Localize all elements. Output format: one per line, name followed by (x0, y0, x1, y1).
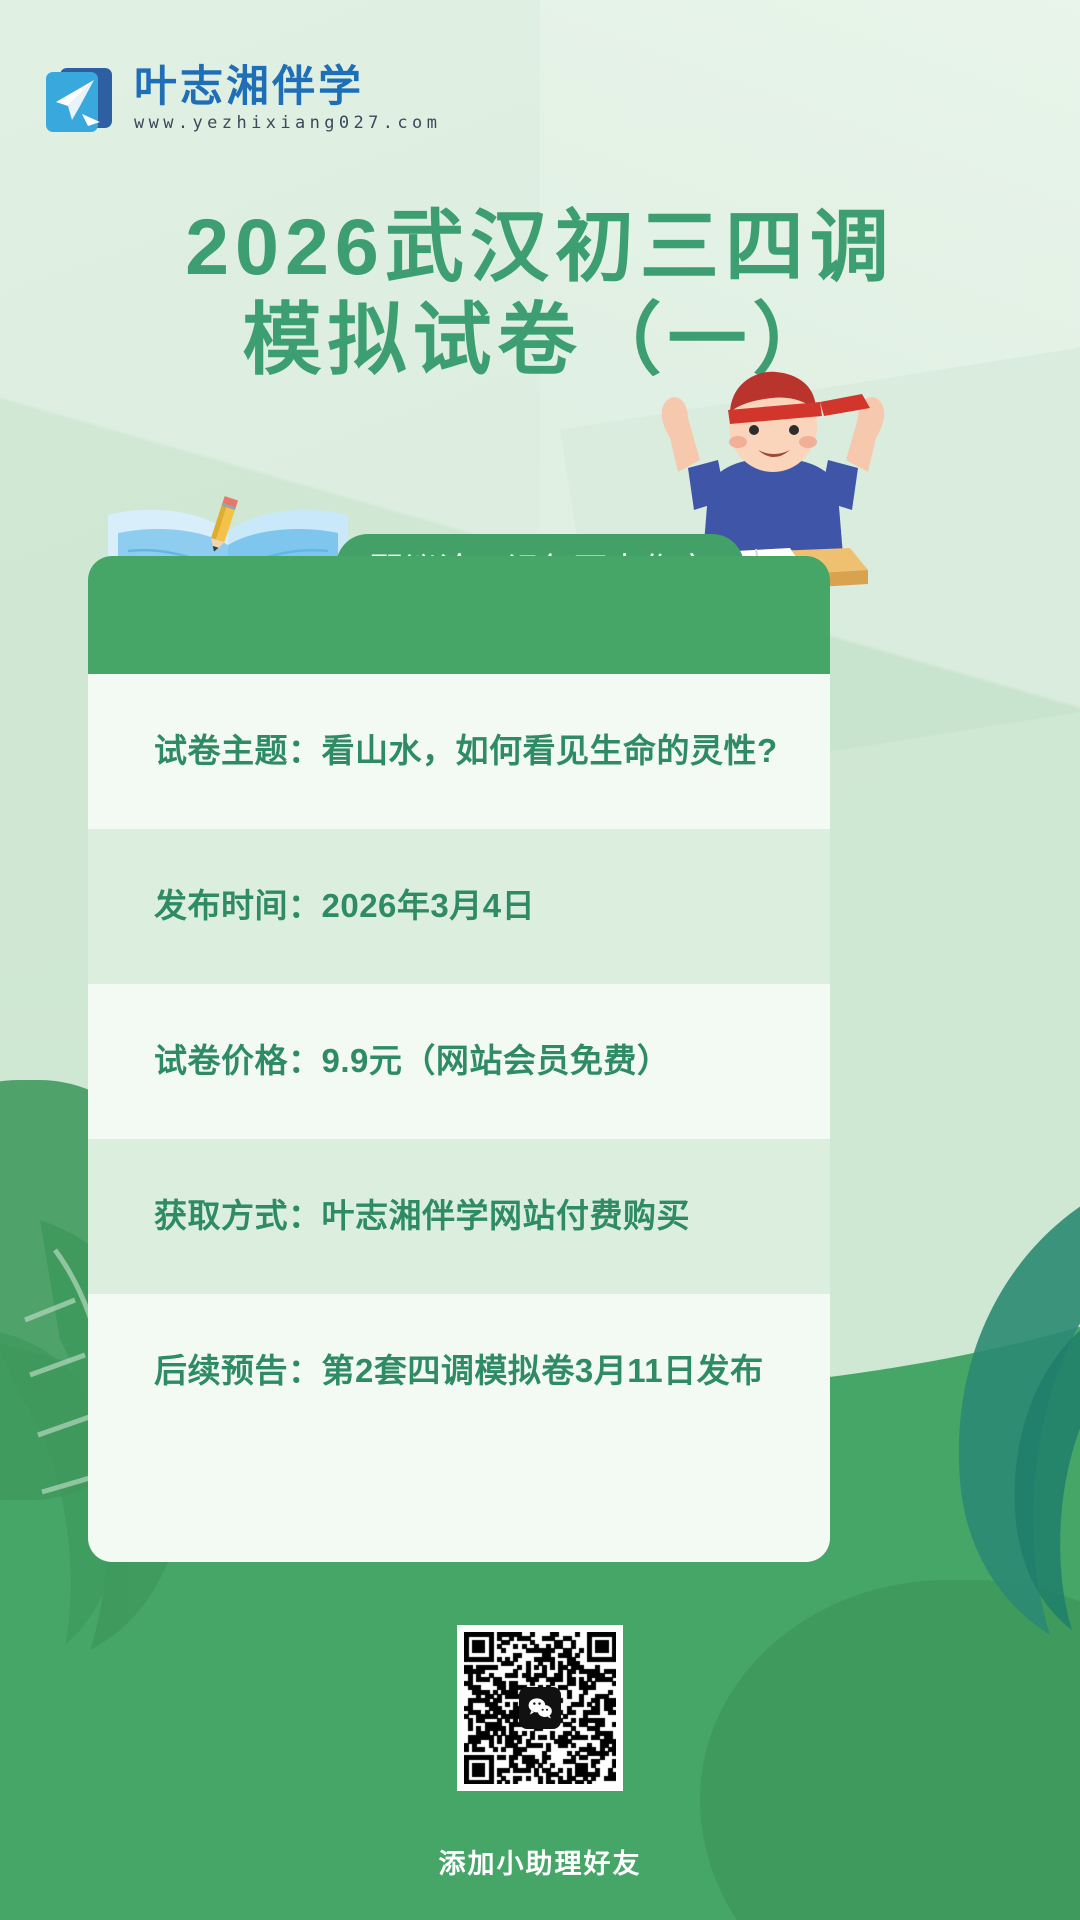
paper-plane-icon (42, 62, 116, 136)
brand-logo: 叶志湘伴学 www.yezhixiang027.com (42, 62, 441, 136)
info-row-text: 获取方式：叶志湘伴学网站付费购买 (154, 1195, 690, 1238)
leaf-icon (810, 1180, 1080, 1640)
info-row-text: 试卷主题：看山水，如何看见生命的灵性? (154, 730, 778, 773)
info-card: 试卷主题：看山水，如何看见生命的灵性? 发布时间：2026年3月4日 试卷价格：… (88, 556, 830, 1562)
wechat-qr-code[interactable] (457, 1625, 623, 1791)
info-row: 后续预告：第2套四调模拟卷3月11日发布 (88, 1294, 830, 1449)
brand-name: 叶志湘伴学 (134, 66, 441, 109)
poster-title: 2026武汉初三四调 模拟试卷（一） (0, 200, 1080, 386)
info-row-text: 后续预告：第2套四调模拟卷3月11日发布 (154, 1350, 764, 1393)
info-row-text: 发布时间：2026年3月4日 (154, 885, 535, 928)
title-line-2: 模拟试卷（一） (0, 293, 1080, 386)
info-row: 获取方式：叶志湘伴学网站付费购买 (88, 1139, 830, 1294)
info-card-header (88, 556, 830, 674)
info-row: 试卷主题：看山水，如何看见生命的灵性? (88, 674, 830, 829)
info-row: 试卷价格：9.9元（网站会员免费） (88, 984, 830, 1139)
title-line-1: 2026武汉初三四调 (0, 200, 1080, 293)
poster-canvas: 叶志湘伴学 www.yezhixiang027.com 2026武汉初三四调 模… (0, 0, 1080, 1920)
info-row-text: 试卷价格：9.9元（网站会员免费） (154, 1040, 670, 1083)
qr-caption: 添加小助理好友 (0, 1842, 1080, 1881)
info-row: 发布时间：2026年3月4日 (88, 829, 830, 984)
brand-url: www.yezhixiang027.com (134, 113, 441, 133)
wechat-icon (519, 1687, 561, 1729)
